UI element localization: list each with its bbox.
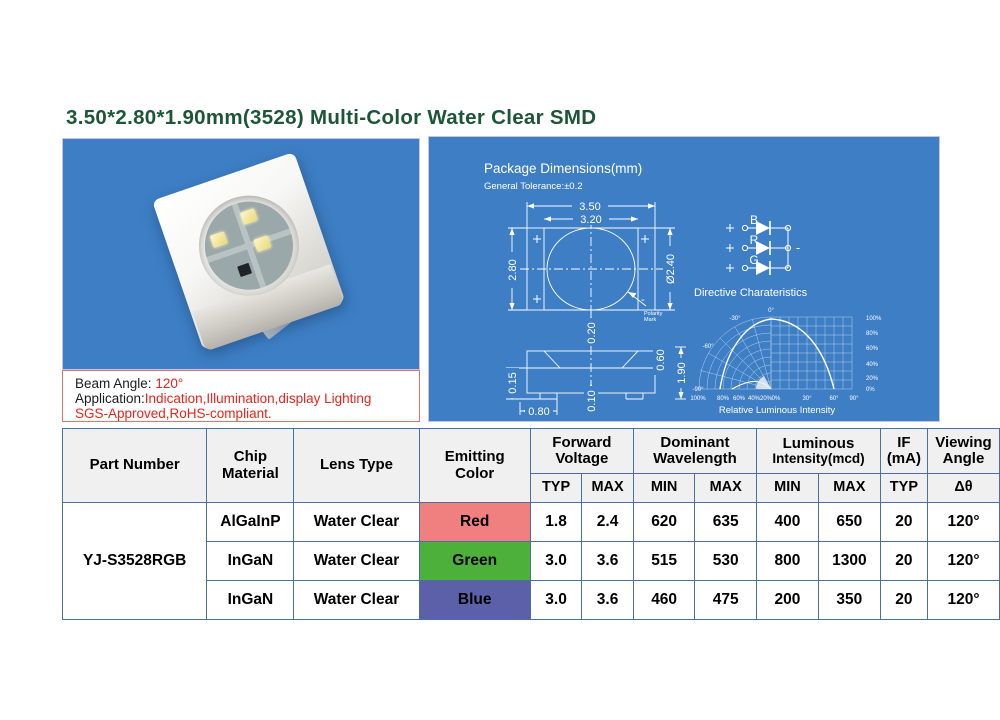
polar-right-20: 20%: [866, 376, 879, 382]
cell-wl-max: 635: [695, 503, 757, 542]
cell-lens-type: Water Clear: [294, 581, 419, 620]
cell-viewing-angle: 120°: [927, 542, 999, 581]
polarity-mark-label-l2: Mark: [644, 317, 656, 323]
cell-wl-max: 530: [695, 542, 757, 581]
polar-intensity-60: 60%: [733, 396, 746, 402]
cell-emitting-color: Blue: [419, 581, 530, 620]
dim-total-height: 1.90: [676, 362, 688, 383]
polar-right-0: 0%: [866, 387, 875, 393]
header-emitting-color: Emitting Color: [419, 429, 530, 503]
cell-if-typ: 20: [880, 503, 927, 542]
cell-vf-max: 3.6: [582, 581, 634, 620]
beam-angle-label: Beam Angle:: [75, 376, 155, 391]
cell-vf-max: 2.4: [582, 503, 634, 542]
cell-wl-min: 620: [633, 503, 694, 542]
cell-chip-material: InGaN: [207, 581, 294, 620]
subheader-vf-typ: TYP: [530, 474, 581, 503]
specification-table: Part Number Chip Material Lens Type Emit…: [62, 428, 1000, 620]
cell-emitting-color: Red: [419, 503, 530, 542]
datasheet-page: 3.50*2.80*1.90mm(3528) Multi-Color Water…: [0, 0, 1000, 720]
subheader-viewing-angle: Δθ: [927, 474, 999, 503]
header-lens-type: Lens Type: [294, 429, 419, 503]
polar-intensity-80: 80%: [717, 396, 730, 402]
circuit-pin-r: R: [750, 233, 759, 247]
cell-wl-max: 475: [695, 581, 757, 620]
header-dominant-wavelength: Dominant Wavelength: [633, 429, 756, 474]
cell-lens-type: Water Clear: [294, 542, 419, 581]
header-dominant-wavelength-l1: Dominant: [634, 435, 756, 451]
header-chip-material-l1: Chip: [207, 449, 293, 465]
header-part-number: Part Number: [63, 429, 207, 503]
dim-width-inner: 3.20: [580, 214, 601, 226]
polar-angle-90: 90°: [849, 396, 859, 402]
cell-vf-typ: 1.8: [530, 503, 581, 542]
cell-iv-max: 350: [818, 581, 880, 620]
circuit-pin-b: B: [750, 213, 758, 227]
header-forward-voltage-l1: Forward: [531, 435, 633, 451]
header-forward-voltage-l2: Voltage: [531, 451, 633, 467]
led-photo-panel: [62, 138, 420, 370]
circuit-pin-g: G: [749, 253, 758, 267]
cell-viewing-angle: 120°: [927, 581, 999, 620]
polar-right-100: 100%: [866, 316, 882, 322]
polar-angle-neg30: -30°: [729, 316, 741, 322]
polar-angle-0: 0°: [768, 308, 774, 314]
dim-width-outer: 3.50: [579, 201, 600, 213]
cell-vf-typ: 3.0: [530, 542, 581, 581]
cell-part-number: YJ-S3528RGB: [63, 503, 207, 620]
polar-right-40: 40%: [866, 362, 879, 368]
circuit-cathode-label: -: [796, 240, 800, 255]
subheader-wl-max: MAX: [695, 474, 757, 503]
polar-xlabel: Relative Luminous Intensity: [719, 405, 835, 416]
header-chip-material-l2: Material: [207, 466, 293, 482]
header-if: IF (mA): [880, 429, 927, 474]
dim-side-step: 0.15: [507, 372, 519, 393]
cell-if-typ: 20: [880, 581, 927, 620]
subheader-vf-max: MAX: [582, 474, 634, 503]
beam-angle-line: Beam Angle: 120°: [75, 376, 183, 391]
cell-vf-max: 3.6: [582, 542, 634, 581]
dim-body-height: 0.60: [655, 349, 667, 370]
header-luminous-intensity-l1: Luminous: [757, 436, 880, 452]
subheader-iv-max: MAX: [818, 474, 880, 503]
cell-iv-max: 650: [818, 503, 880, 542]
polar-angle-neg90: -90°: [692, 387, 704, 393]
table-header-row-1: Part Number Chip Material Lens Type Emit…: [63, 429, 1000, 474]
header-emitting-color-l2: Color: [420, 466, 530, 482]
cell-iv-max: 1300: [818, 542, 880, 581]
dim-side-pad: 0.80: [528, 406, 549, 418]
cell-wl-min: 515: [633, 542, 694, 581]
subheader-iv-min: MIN: [757, 474, 819, 503]
led-package-body: [152, 152, 346, 352]
compliance-line: SGS-Approved,RoHS-compliant.: [75, 406, 272, 421]
cell-chip-material: InGaN: [207, 542, 294, 581]
dim-pad-gap: 0.20: [586, 322, 598, 343]
header-if-l1: IF: [881, 435, 927, 451]
caption-panel: Beam Angle: 120° Application:Indication,…: [62, 370, 420, 422]
dim-height-outer: 2.80: [507, 259, 519, 280]
cell-if-typ: 20: [880, 542, 927, 581]
cell-vf-typ: 3.0: [530, 581, 581, 620]
header-viewing-angle-l2: Angle: [928, 451, 999, 467]
cell-iv-min: 200: [757, 581, 819, 620]
dim-lens-diameter: Ø2.40: [665, 254, 677, 284]
header-viewing-angle: Viewing Angle: [927, 429, 999, 474]
application-label: Application:: [75, 391, 145, 406]
polar-chart-title: Directive Charateristics: [694, 287, 808, 299]
drawing-title: Package Dimensions(mm): [484, 161, 642, 176]
dim-side-gap: 0.10: [586, 390, 598, 411]
package-drawing-svg: Package Dimensions(mm) General Tolerance…: [432, 140, 938, 420]
header-luminous-intensity-l2: Intensity(mcd): [757, 452, 880, 467]
polar-angle-60: 60°: [829, 396, 839, 402]
application-line: Application:Indication,Illumination,disp…: [75, 391, 371, 406]
header-chip-material: Chip Material: [207, 429, 294, 503]
polar-intensity-0: 0%: [772, 396, 781, 402]
package-drawing-panel: Package Dimensions(mm) General Tolerance…: [428, 136, 940, 422]
cell-viewing-angle: 120°: [927, 503, 999, 542]
drawing-tolerance: General Tolerance:±0.2: [484, 181, 583, 192]
cell-iv-min: 400: [757, 503, 819, 542]
polar-right-60: 60%: [866, 346, 879, 352]
polar-angle-30: 30°: [802, 396, 812, 402]
table-row: YJ-S3528RGB AlGaInP Water Clear Red 1.8 …: [63, 503, 1000, 542]
beam-angle-value: 120°: [155, 376, 183, 391]
polar-right-80: 80%: [866, 331, 879, 337]
header-luminous-intensity: Luminous Intensity(mcd): [757, 429, 881, 474]
led-photograph: [66, 142, 416, 366]
polar-angle-neg60: -60°: [702, 344, 714, 350]
header-viewing-angle-l1: Viewing: [928, 435, 999, 451]
header-forward-voltage: Forward Voltage: [530, 429, 633, 474]
cell-lens-type: Water Clear: [294, 503, 419, 542]
header-if-l2: (mA): [881, 451, 927, 467]
polar-intensity-40: 40%: [748, 396, 761, 402]
cell-chip-material: AlGaInP: [207, 503, 294, 542]
subheader-wl-min: MIN: [633, 474, 694, 503]
cell-iv-min: 800: [757, 542, 819, 581]
page-title: 3.50*2.80*1.90mm(3528) Multi-Color Water…: [66, 106, 946, 130]
header-dominant-wavelength-l2: Wavelength: [634, 451, 756, 467]
cell-emitting-color: Green: [419, 542, 530, 581]
application-value: Indication,Illumination,display Lighting: [145, 391, 372, 406]
header-emitting-color-l1: Emitting: [420, 449, 530, 465]
subheader-if-typ: TYP: [880, 474, 927, 503]
polar-intensity-100: 100%: [690, 396, 706, 402]
cell-wl-min: 460: [633, 581, 694, 620]
